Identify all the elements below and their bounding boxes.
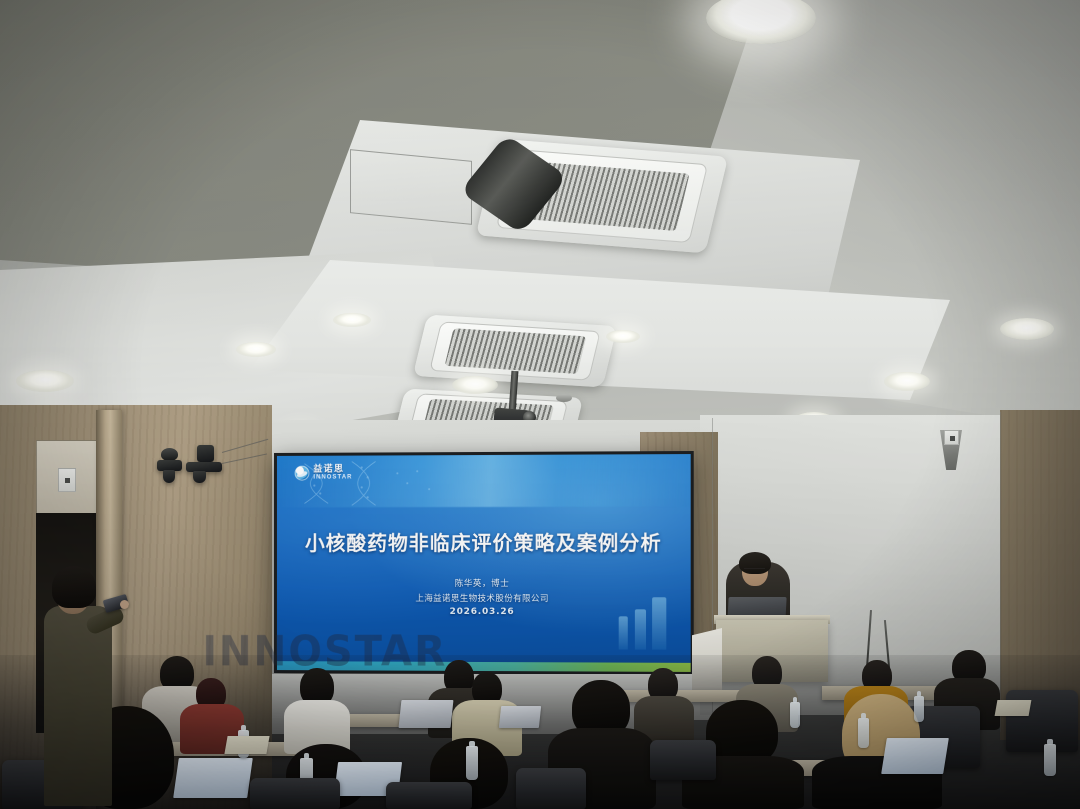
ceiling-downlight	[16, 370, 74, 392]
chair	[386, 782, 472, 809]
presenter-glasses-icon	[744, 568, 765, 573]
wall-camera-icon	[197, 445, 214, 462]
ceiling-downlight	[884, 372, 930, 391]
chair	[650, 740, 716, 780]
laptop[interactable]	[881, 738, 949, 774]
logo-english-name: INNOSTAR	[313, 474, 352, 480]
ceiling-downlight	[606, 330, 640, 343]
chair	[250, 778, 340, 809]
ceiling-downlight	[452, 376, 498, 394]
water-bottle[interactable]	[914, 696, 924, 722]
slide-date: 2026.03.26	[277, 607, 691, 618]
wall-speaker-body	[163, 470, 175, 483]
ceiling-air-conditioner-icon	[476, 139, 728, 254]
papers	[995, 700, 1032, 716]
innostar-circle-swoosh-icon	[295, 465, 310, 480]
ceiling-downlight	[236, 342, 276, 357]
wall-outlet-plate[interactable]	[58, 468, 76, 492]
laptop[interactable]	[173, 758, 253, 798]
water-bottle[interactable]	[858, 718, 869, 748]
chair	[516, 768, 586, 809]
ceiling-downlight	[333, 313, 371, 327]
standing-attendee-hair	[52, 566, 96, 608]
smoke-detector-icon	[556, 394, 572, 402]
slide-organization: 上海益诺思生物技术股份有限公司	[277, 592, 691, 605]
ceiling-downlight	[1000, 318, 1054, 340]
papers	[224, 736, 269, 754]
innostar-logo: 益诺思 INNOSTAR	[295, 465, 353, 481]
wall-outlet-plate[interactable]	[944, 430, 959, 445]
logo-chinese-name: 益诺思	[313, 465, 352, 474]
wall-speaker-body	[193, 471, 206, 483]
conference-room-photo: 益诺思 INNOSTAR 小核酸药物非临床评价策略及案例分析 陈华英，博士 上海…	[0, 0, 1080, 809]
standing-attendee-hand	[120, 600, 129, 609]
laptop[interactable]	[399, 700, 454, 728]
water-bottle[interactable]	[790, 702, 800, 728]
slide-title: 小核酸药物非临床评价策略及案例分析	[277, 527, 691, 556]
ceiling-access-hatch	[350, 149, 472, 225]
slide-decor-vial	[619, 616, 628, 649]
standing-attendee-coat	[44, 606, 112, 806]
water-bottle[interactable]	[1044, 744, 1056, 776]
slide-presenter: 陈华英，博士	[277, 577, 691, 589]
slide-subtitle-block: 陈华英，博士 上海益诺思生物技术股份有限公司 2026.03.26	[277, 577, 691, 618]
laptop[interactable]	[499, 706, 541, 728]
water-bottle[interactable]	[466, 746, 478, 780]
